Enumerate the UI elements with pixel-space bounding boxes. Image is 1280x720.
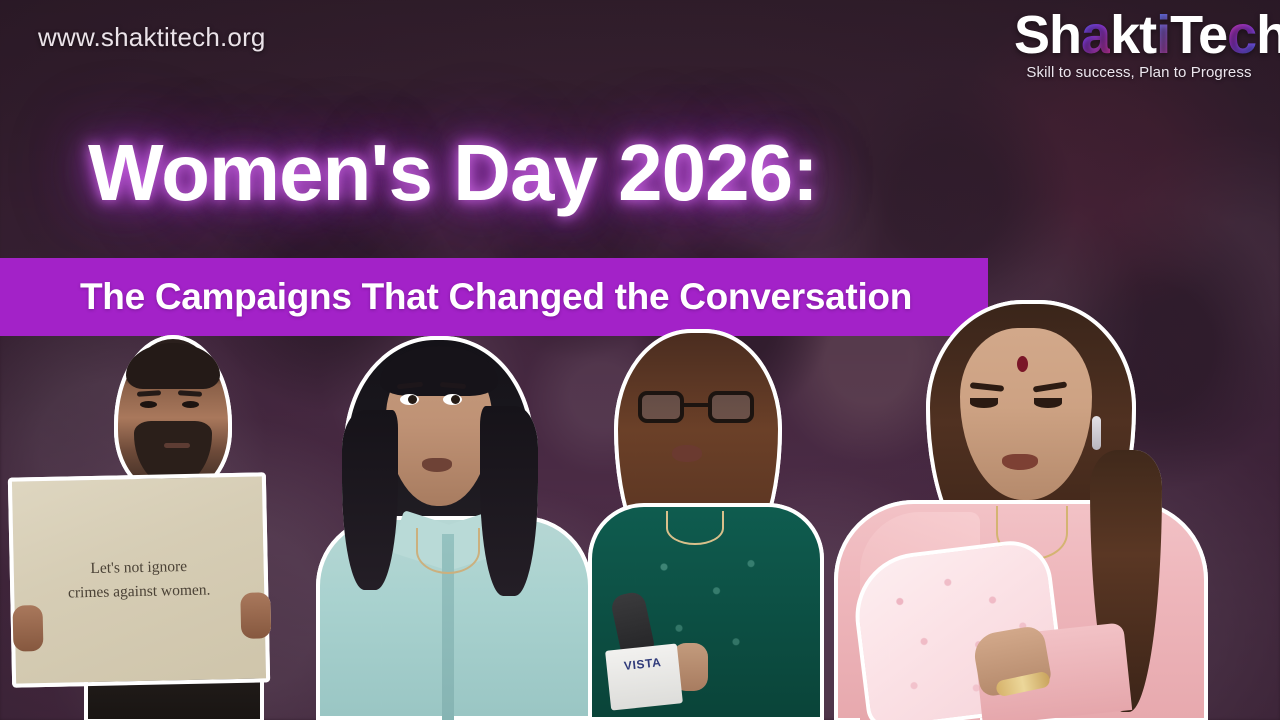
- figure-collage: Let's not ignore crimes against women.: [0, 0, 1280, 720]
- figure3-lens-left: [638, 391, 684, 423]
- figure3-mouth: [672, 445, 702, 462]
- eyeglasses-icon: [638, 391, 754, 423]
- figure4-eye-right: [1034, 398, 1062, 408]
- figure3-necklace: [666, 511, 724, 545]
- figure1-head: [114, 335, 232, 495]
- placard-text: Let's not ignore crimes against women.: [55, 554, 222, 606]
- figure4-mouth: [1002, 454, 1038, 470]
- figure2-pupil-left: [408, 395, 417, 404]
- figure2-hair-strand-right: [480, 406, 538, 596]
- figure-woman-blue-shirt: [312, 320, 592, 720]
- banner-root: www.shaktitech.org ShaktiTech Skill to s…: [0, 0, 1280, 720]
- earring-icon: [1092, 416, 1101, 450]
- figure1-eye-left: [140, 401, 157, 408]
- figure3-lens-right: [708, 391, 754, 423]
- figure1-eye-right: [182, 401, 199, 408]
- microphone-flag: VISTA: [605, 643, 683, 710]
- figure2-hair-strand-left: [342, 410, 398, 590]
- figure-woman-holding-baby: [790, 300, 1210, 720]
- figure-man-holding-placard: Let's not ignore crimes against women.: [10, 335, 310, 720]
- figure1-hair: [126, 343, 220, 389]
- figure4-eye-left: [970, 398, 998, 408]
- figure2-pupil-right: [451, 395, 460, 404]
- figure1-brow-right: [178, 390, 202, 397]
- figure1-hand-right: [240, 592, 271, 639]
- bindi-icon: [1017, 356, 1028, 372]
- figure2-mouth: [422, 458, 452, 472]
- figure2-necklace: [416, 528, 480, 574]
- protest-placard: Let's not ignore crimes against women.: [8, 472, 270, 687]
- figure1-mouth: [164, 443, 190, 448]
- figure1-hand-left: [13, 605, 44, 652]
- figure1-brow-left: [137, 390, 161, 397]
- microphone-channel-label: VISTA: [623, 655, 662, 673]
- figure3-glasses-bridge: [684, 403, 708, 407]
